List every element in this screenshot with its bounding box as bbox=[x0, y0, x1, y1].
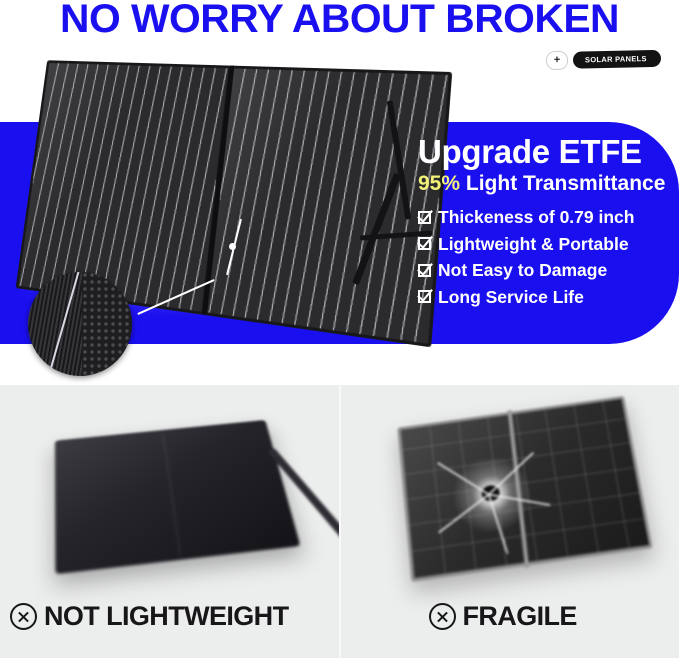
hero-section: NO WORRY ABOUT BROKEN + SOLAR PANELS Upg… bbox=[0, 0, 679, 385]
surface-detail-magnifier bbox=[28, 272, 132, 376]
magnifier-hairline bbox=[46, 272, 81, 376]
feature-list: Thickeness of 0.79 inch Lightweight & Po… bbox=[418, 204, 676, 310]
heavy-panel-photo bbox=[55, 420, 301, 574]
feature-item-label: Lightweight & Portable bbox=[438, 231, 629, 258]
plus-icon[interactable]: + bbox=[546, 51, 568, 70]
feature-item: Long Service Life bbox=[418, 284, 676, 311]
feature-item-label: Long Service Life bbox=[438, 284, 584, 311]
heavy-panel-surface bbox=[55, 420, 301, 574]
solar-panel-illustration bbox=[0, 0, 440, 345]
panel-half-right bbox=[204, 66, 452, 348]
feature-text-block: Upgrade ETFE 95% Light Transmittance Thi… bbox=[418, 134, 676, 310]
callout-anchor-dot bbox=[229, 243, 236, 250]
comparison-card-fragile: FRAGILE bbox=[339, 385, 679, 658]
checkbox-checked-icon bbox=[418, 211, 431, 224]
feature-title: Upgrade ETFE bbox=[418, 134, 676, 170]
comparison-caption-label: FRAGILE bbox=[463, 601, 577, 632]
comparison-caption: FRAGILE bbox=[429, 601, 577, 632]
feature-item: Not Easy to Damage bbox=[418, 257, 676, 284]
comparison-section: NOT LIGHTWEIGHT FRAGILE bbox=[0, 385, 679, 658]
checkbox-checked-icon bbox=[418, 237, 431, 250]
feature-item: Thickeness of 0.79 inch bbox=[418, 204, 676, 231]
circle-x-icon bbox=[10, 603, 37, 630]
transmittance-label: Light Transmittance bbox=[466, 172, 666, 195]
cracked-panel-photo bbox=[397, 396, 652, 582]
comparison-caption-label: NOT LIGHTWEIGHT bbox=[44, 601, 288, 632]
transmittance-percent: 95% bbox=[418, 172, 460, 195]
feature-item: Lightweight & Portable bbox=[418, 231, 676, 258]
comparison-card-not-lightweight: NOT LIGHTWEIGHT bbox=[0, 385, 339, 658]
feature-item-label: Thickeness of 0.79 inch bbox=[438, 204, 634, 231]
etfe-texture-patch bbox=[82, 272, 132, 376]
feature-item-label: Not Easy to Damage bbox=[438, 257, 607, 284]
circle-x-icon bbox=[429, 603, 456, 630]
feature-subtitle: 95% Light Transmittance bbox=[418, 171, 676, 197]
comparison-caption: NOT LIGHTWEIGHT bbox=[10, 601, 288, 632]
checkbox-checked-icon bbox=[418, 264, 431, 277]
checkbox-checked-icon bbox=[418, 290, 431, 303]
category-badge[interactable]: + SOLAR PANELS bbox=[546, 49, 661, 70]
category-pill-label[interactable]: SOLAR PANELS bbox=[573, 50, 661, 69]
heavy-panel-fold bbox=[162, 433, 182, 556]
